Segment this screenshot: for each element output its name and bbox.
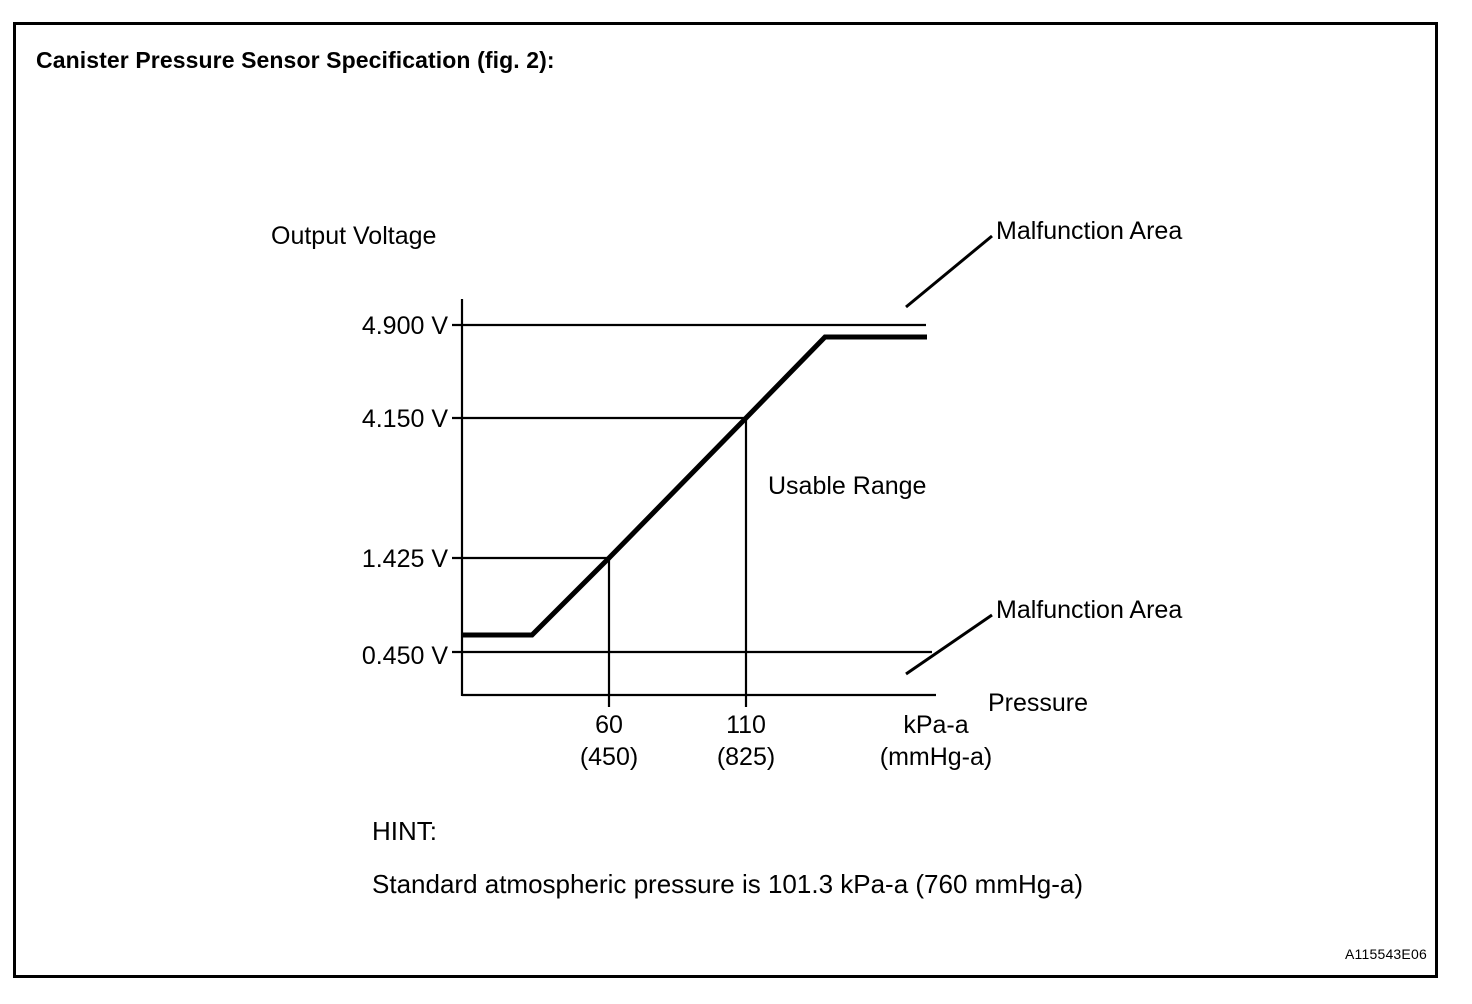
screenshot-page: Canister Pressure Sensor Specification (… — [0, 0, 1472, 1004]
x-axis-unit-primary: kPa-a — [874, 713, 998, 738]
y-tick-label-1425v: 1.425 V — [330, 547, 448, 572]
y-axis-title: Output Voltage — [271, 224, 436, 249]
x-tick-sublabel-60: (450) — [549, 745, 669, 770]
hint-label: HINT: — [372, 818, 437, 844]
annotation-malfunction-area-bottom: Malfunction Area — [996, 598, 1182, 623]
annotation-usable-range: Usable Range — [768, 474, 926, 499]
x-axis-title: Pressure — [988, 691, 1088, 716]
document-frame — [13, 22, 1438, 978]
x-tick-sublabel-110: (825) — [686, 745, 806, 770]
plate-code: A115543E06 — [1345, 946, 1427, 962]
x-tick-label-110: 110 — [686, 713, 806, 738]
y-tick-label-4150v: 4.150 V — [330, 407, 448, 432]
x-axis-unit-secondary: (mmHg-a) — [862, 745, 1010, 770]
y-tick-label-0450v: 0.450 V — [330, 644, 448, 669]
page-title: Canister Pressure Sensor Specification (… — [36, 47, 555, 74]
annotation-malfunction-area-top: Malfunction Area — [996, 219, 1182, 244]
x-tick-label-60: 60 — [549, 713, 669, 738]
hint-text: Standard atmospheric pressure is 101.3 k… — [372, 871, 1083, 897]
y-tick-label-4900v: 4.900 V — [330, 314, 448, 339]
